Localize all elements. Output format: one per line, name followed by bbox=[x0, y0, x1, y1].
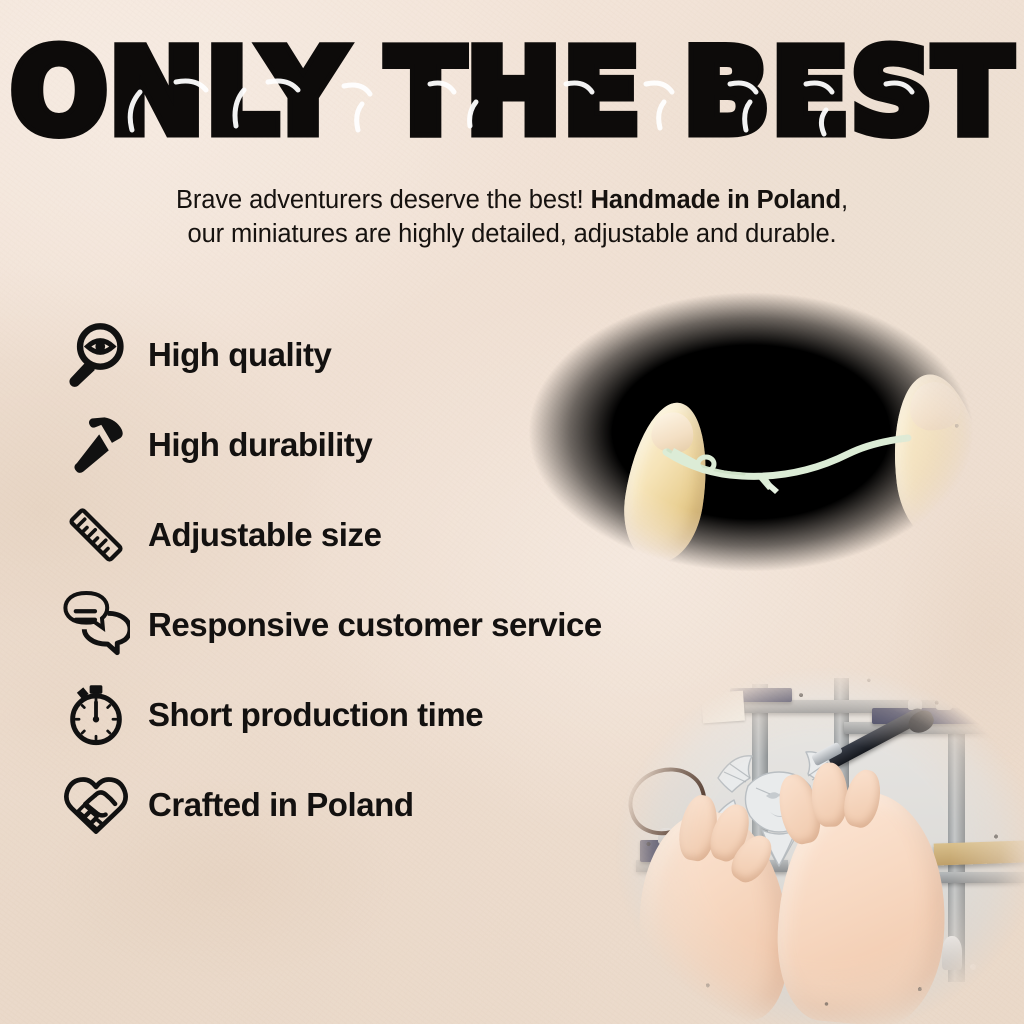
feature-label: Crafted in Poland bbox=[148, 786, 414, 824]
hammer-icon bbox=[62, 411, 130, 479]
stopwatch-icon bbox=[62, 681, 130, 749]
subtitle-lead: Brave adventurers deserve the best! bbox=[176, 186, 584, 214]
fingernail-left bbox=[649, 409, 697, 455]
subtitle-tail: , bbox=[841, 186, 848, 214]
primed-miniature bbox=[942, 936, 962, 970]
feature-label: High quality bbox=[148, 336, 331, 374]
resin-speck bbox=[970, 964, 976, 970]
page-title: ONLY THE BEST bbox=[11, 34, 1014, 150]
handshake-heart-icon bbox=[62, 771, 130, 839]
miniature-painting-workshop-photo bbox=[612, 664, 1024, 1024]
fingertip-right bbox=[884, 369, 990, 546]
feature-label: High durability bbox=[148, 426, 372, 464]
flexible-miniature-bend-photo bbox=[512, 282, 990, 582]
photo-top-canvas bbox=[512, 282, 990, 582]
miniature-on-tray bbox=[936, 696, 952, 710]
subtitle-emphasis: Handmade in Poland bbox=[591, 186, 841, 214]
speech-bubbles-icon bbox=[62, 591, 130, 659]
fingertip-left bbox=[616, 397, 718, 567]
feature-label: Adjustable size bbox=[148, 516, 381, 554]
feature-label: Responsive customer service bbox=[148, 606, 602, 644]
feature-label: Short production time bbox=[148, 696, 483, 734]
magnifier-eye-icon bbox=[62, 321, 130, 389]
headline-container: ONLY THE BEST bbox=[0, 34, 1024, 138]
fingernail-right bbox=[907, 379, 962, 433]
feature-item-customer-service: Responsive customer service bbox=[62, 580, 782, 670]
shelf-label-note bbox=[701, 691, 745, 724]
subtitle: Brave adventurers deserve the best! Hand… bbox=[0, 183, 1024, 251]
wooden-board bbox=[934, 840, 1024, 865]
subtitle-line2: our miniatures are highly detailed, adju… bbox=[187, 220, 836, 248]
ruler-icon bbox=[62, 501, 130, 569]
photo-bottom-canvas bbox=[612, 664, 1024, 1024]
infographic-canvas: ONLY THE BEST Brav bbox=[0, 0, 1024, 1024]
